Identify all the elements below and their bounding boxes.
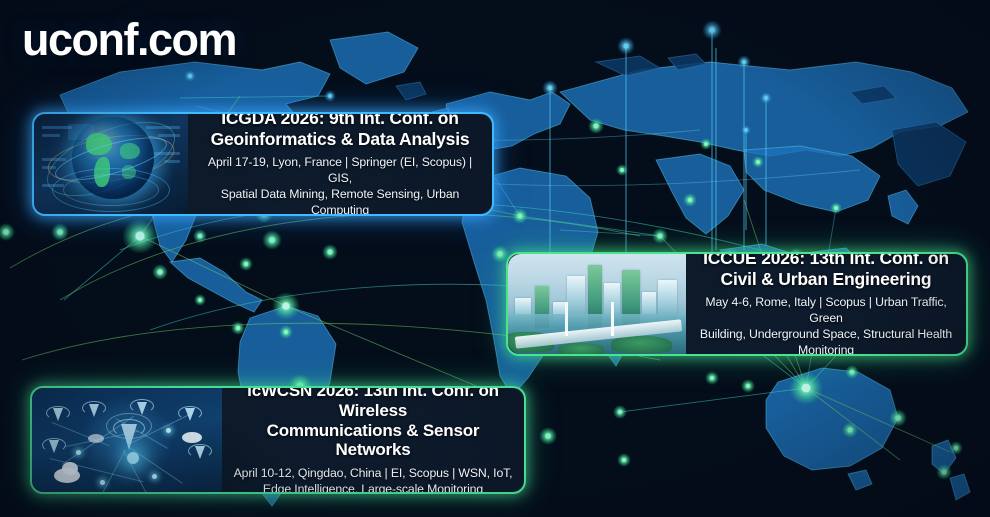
conference-banner: uconf.com xyxy=(0,0,990,517)
card-body-icwcsn: icWCSN 2026: 13th Int. Conf. on Wireless… xyxy=(222,388,524,492)
card-title-icwcsn: icWCSN 2026: 13th Int. Conf. on Wireless… xyxy=(230,388,516,460)
card-subtitle-iccue: May 4-6, Rome, Italy | Scopus | Urban Tr… xyxy=(694,295,958,354)
site-logo[interactable]: uconf.com xyxy=(22,17,236,62)
wireless-sensor-network-image xyxy=(32,388,222,492)
conference-card-iccue[interactable]: ICCUE 2026: 13th Int. Conf. on Civil & U… xyxy=(506,252,968,356)
conference-card-icgda[interactable]: ICGDA 2026: 9th Int. Conf. on Geoinforma… xyxy=(32,112,494,216)
card-subtitle-icgda: April 17-19, Lyon, France | Springer (EI… xyxy=(196,155,484,214)
card-title-icgda: ICGDA 2026: 9th Int. Conf. on Geoinforma… xyxy=(211,114,470,149)
card-body-icgda: ICGDA 2026: 9th Int. Conf. on Geoinforma… xyxy=(188,114,492,214)
green-city-bridge-image xyxy=(508,254,686,354)
globe-data-visualization-image xyxy=(34,114,188,214)
conference-card-icwcsn[interactable]: icWCSN 2026: 13th Int. Conf. on Wireless… xyxy=(30,386,526,494)
card-title-iccue: ICCUE 2026: 13th Int. Conf. on Civil & U… xyxy=(703,254,949,289)
card-subtitle-icwcsn: April 10-12, Qingdao, China | EI, Scopus… xyxy=(234,466,513,492)
card-body-iccue: ICCUE 2026: 13th Int. Conf. on Civil & U… xyxy=(686,254,966,354)
